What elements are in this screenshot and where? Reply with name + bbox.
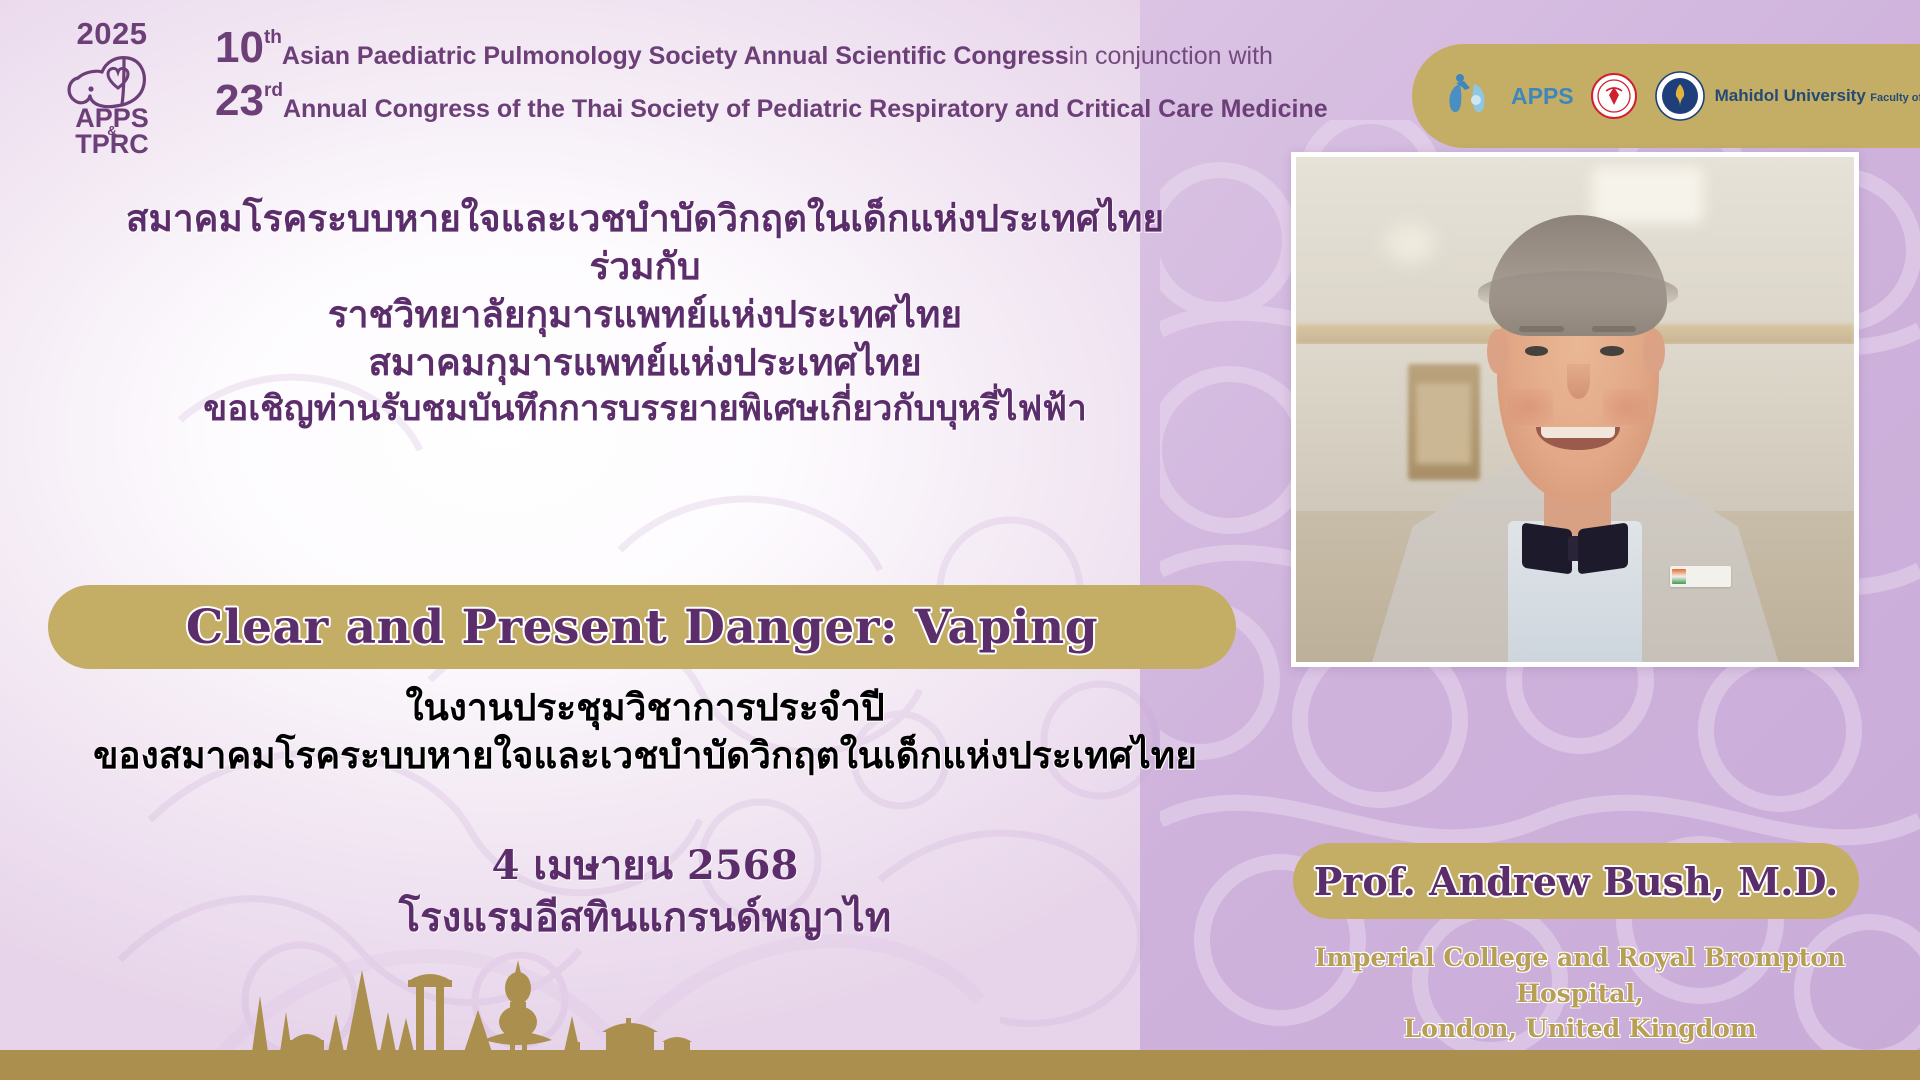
affiliation-line-2: London, United Kingdom <box>1270 1011 1890 1047</box>
apps-lung-icon <box>1440 72 1502 120</box>
thai-society-seal-icon <box>1590 72 1638 120</box>
apps-logo: APPS <box>1440 72 1574 120</box>
speaker-name: Prof. Andrew Bush, M.D. <box>1314 859 1839 904</box>
congress-line-2: 23 rd Annual Congress of the Thai Societ… <box>215 79 1405 123</box>
event-date: 4 เมษายน 2568 <box>20 840 1270 892</box>
mahidol-text: Mahidol University Faculty of Medicine R… <box>1715 87 1920 106</box>
affiliation-line-1: Imperial College and Royal Brompton Hosp… <box>1270 940 1890 1011</box>
body-copy-below-title: ในงานประชุมวิชาการประจำปี ของสมาคมโรคระบ… <box>20 684 1270 780</box>
speaker-photo-frame <box>1291 152 1859 667</box>
thai-society-seal <box>1590 72 1638 120</box>
event-venue: โรงแรมอีสทินแกรนด์พญาไท <box>20 892 1270 944</box>
lecture-title: Clear and Present Danger: Vaping <box>186 600 1098 655</box>
logo-acronym-ampersand: & <box>107 125 116 137</box>
poster-canvas: 2025 APPS TPRC & 10 th Asian Paed <box>0 0 1920 1080</box>
speaker-name-banner: Prof. Andrew Bush, M.D. <box>1293 843 1859 919</box>
congress-title-block: 10 th Asian Paediatric Pulmonology Socie… <box>215 26 1405 123</box>
congress-ordinal-2: 23 <box>215 79 264 123</box>
congress-ordinal-suffix-1: th <box>264 28 282 47</box>
logo-acronym: APPS TPRC & <box>48 106 176 158</box>
elephant-lung-heart-icon <box>62 48 162 110</box>
congress-ordinal-1: 10 <box>215 26 264 70</box>
body-line-4: สมาคมกุมารแพทย์แห่งประเทศไทย <box>20 339 1270 387</box>
poster-header: 2025 APPS TPRC & 10 th Asian Paed <box>0 0 1920 168</box>
congress-ordinal-suffix-2: rd <box>264 81 283 100</box>
lecture-title-banner: Clear and Present Danger: Vaping <box>48 585 1236 669</box>
congress-conjunction: in conjunction with <box>1069 44 1273 69</box>
date-and-venue: 4 เมษายน 2568 โรงแรมอีสทินแกรนด์พญาไท <box>20 840 1270 944</box>
body-copy-above-title: สมาคมโรคระบบหายใจและเวชบำบัดวิกฤตในเด็กแ… <box>20 195 1270 433</box>
thai-temple-skyline-silhouette <box>140 956 920 1052</box>
body-line-7: ของสมาคมโรคระบบหายใจและเวชบำบัดวิกฤตในเด… <box>20 732 1270 780</box>
apps-tprc-logo: 2025 APPS TPRC & <box>48 18 176 154</box>
speaker-portrait-andrew-bush <box>1296 157 1854 662</box>
congress-name-1: Asian Paediatric Pulmonology Society Ann… <box>282 44 1069 69</box>
body-line-6: ในงานประชุมวิชาการประจำปี <box>20 684 1270 732</box>
body-line-2: ร่วมกับ <box>20 243 1270 291</box>
mahidol-seal-icon <box>1654 70 1706 122</box>
speaker-affiliation: Imperial College and Royal Brompton Hosp… <box>1270 940 1890 1047</box>
mahidol-university-seal: Mahidol University Faculty of Medicine R… <box>1654 70 1920 122</box>
congress-line-1: 10 th Asian Paediatric Pulmonology Socie… <box>215 26 1405 70</box>
congress-name-2: Annual Congress of the Thai Society of P… <box>283 97 1328 122</box>
logo-year: 2025 <box>48 18 176 49</box>
body-line-3: ราชวิทยาลัยกุมารแพทย์แห่งประเทศไทย <box>20 291 1270 339</box>
apps-logo-text: APPS <box>1511 84 1574 109</box>
sponsor-logo-bar: APPS Mahidol University <box>1412 44 1920 148</box>
body-line-5: ขอเชิญท่านรับชมบันทึกการบรรยายพิเศษเกี่ย… <box>20 387 1270 433</box>
body-line-1: สมาคมโรคระบบหายใจและเวชบำบัดวิกฤตในเด็กแ… <box>20 195 1270 243</box>
bottom-gold-band <box>0 1050 1920 1080</box>
